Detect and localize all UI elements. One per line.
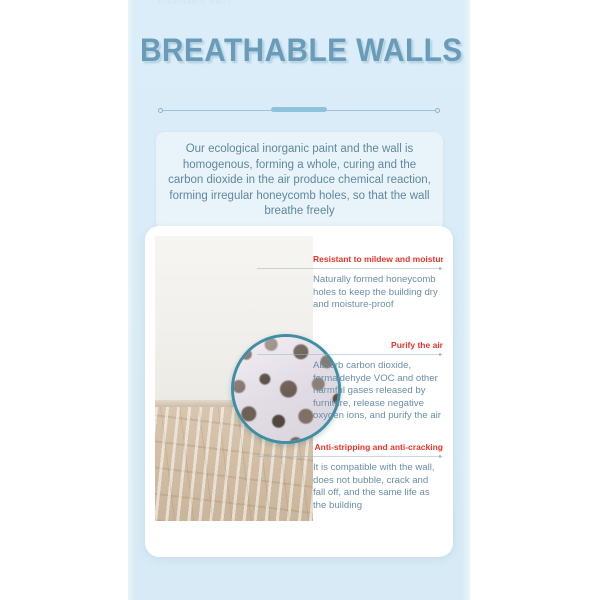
feature-rule-line xyxy=(257,268,443,269)
divider-dot-left xyxy=(158,108,163,113)
feature-rule-dot xyxy=(439,353,442,356)
page-root: breathable walls BREATHABLE WALLS Our ec… xyxy=(0,0,600,600)
feature-card-inner: Resistant to mildew and moisture Natural… xyxy=(155,236,443,547)
title-divider xyxy=(158,106,440,114)
feature-rule-line xyxy=(257,456,443,457)
divider-dot-right xyxy=(435,108,440,113)
feature-kicker: Anti-stripping and anti-cracking xyxy=(313,442,443,453)
content-panel: breathable walls BREATHABLE WALLS Our ec… xyxy=(128,0,470,600)
feature-card: Resistant to mildew and moisture Natural… xyxy=(145,226,453,557)
panel-right-edge xyxy=(463,0,470,600)
top-ghost-text: breathable walls xyxy=(158,0,388,8)
page-title: BREATHABLE WALLS xyxy=(140,32,458,69)
feature-section-anti-cracking: Anti-stripping and anti-cracking It is c… xyxy=(313,442,443,512)
feature-rule xyxy=(313,454,443,459)
feature-kicker: Resistant to mildew and moisture xyxy=(313,254,443,265)
feature-rule-dot xyxy=(439,455,442,458)
feature-section-mildew: Resistant to mildew and moisture Natural… xyxy=(313,254,443,312)
feature-rule xyxy=(313,352,443,357)
feature-body: Absorb carbon dioxide, formaldehyde VOC … xyxy=(313,357,443,423)
feature-body: It is compatible with the wall, does not… xyxy=(313,459,443,512)
feature-rule xyxy=(313,266,443,271)
feature-rule-dot xyxy=(439,267,442,270)
feature-body: Naturally formed honeycomb holes to keep… xyxy=(313,271,443,312)
feature-rule-line xyxy=(257,354,443,355)
panel-left-edge xyxy=(128,0,134,600)
intro-paragraph: Our ecological inorganic paint and the w… xyxy=(156,132,443,231)
feature-kicker: Purify the air xyxy=(313,340,443,351)
feature-text-column: Resistant to mildew and moisture Natural… xyxy=(313,236,443,547)
feature-section-purify: Purify the air Absorb carbon dioxide, fo… xyxy=(313,340,443,423)
divider-accent-bar xyxy=(271,107,327,112)
